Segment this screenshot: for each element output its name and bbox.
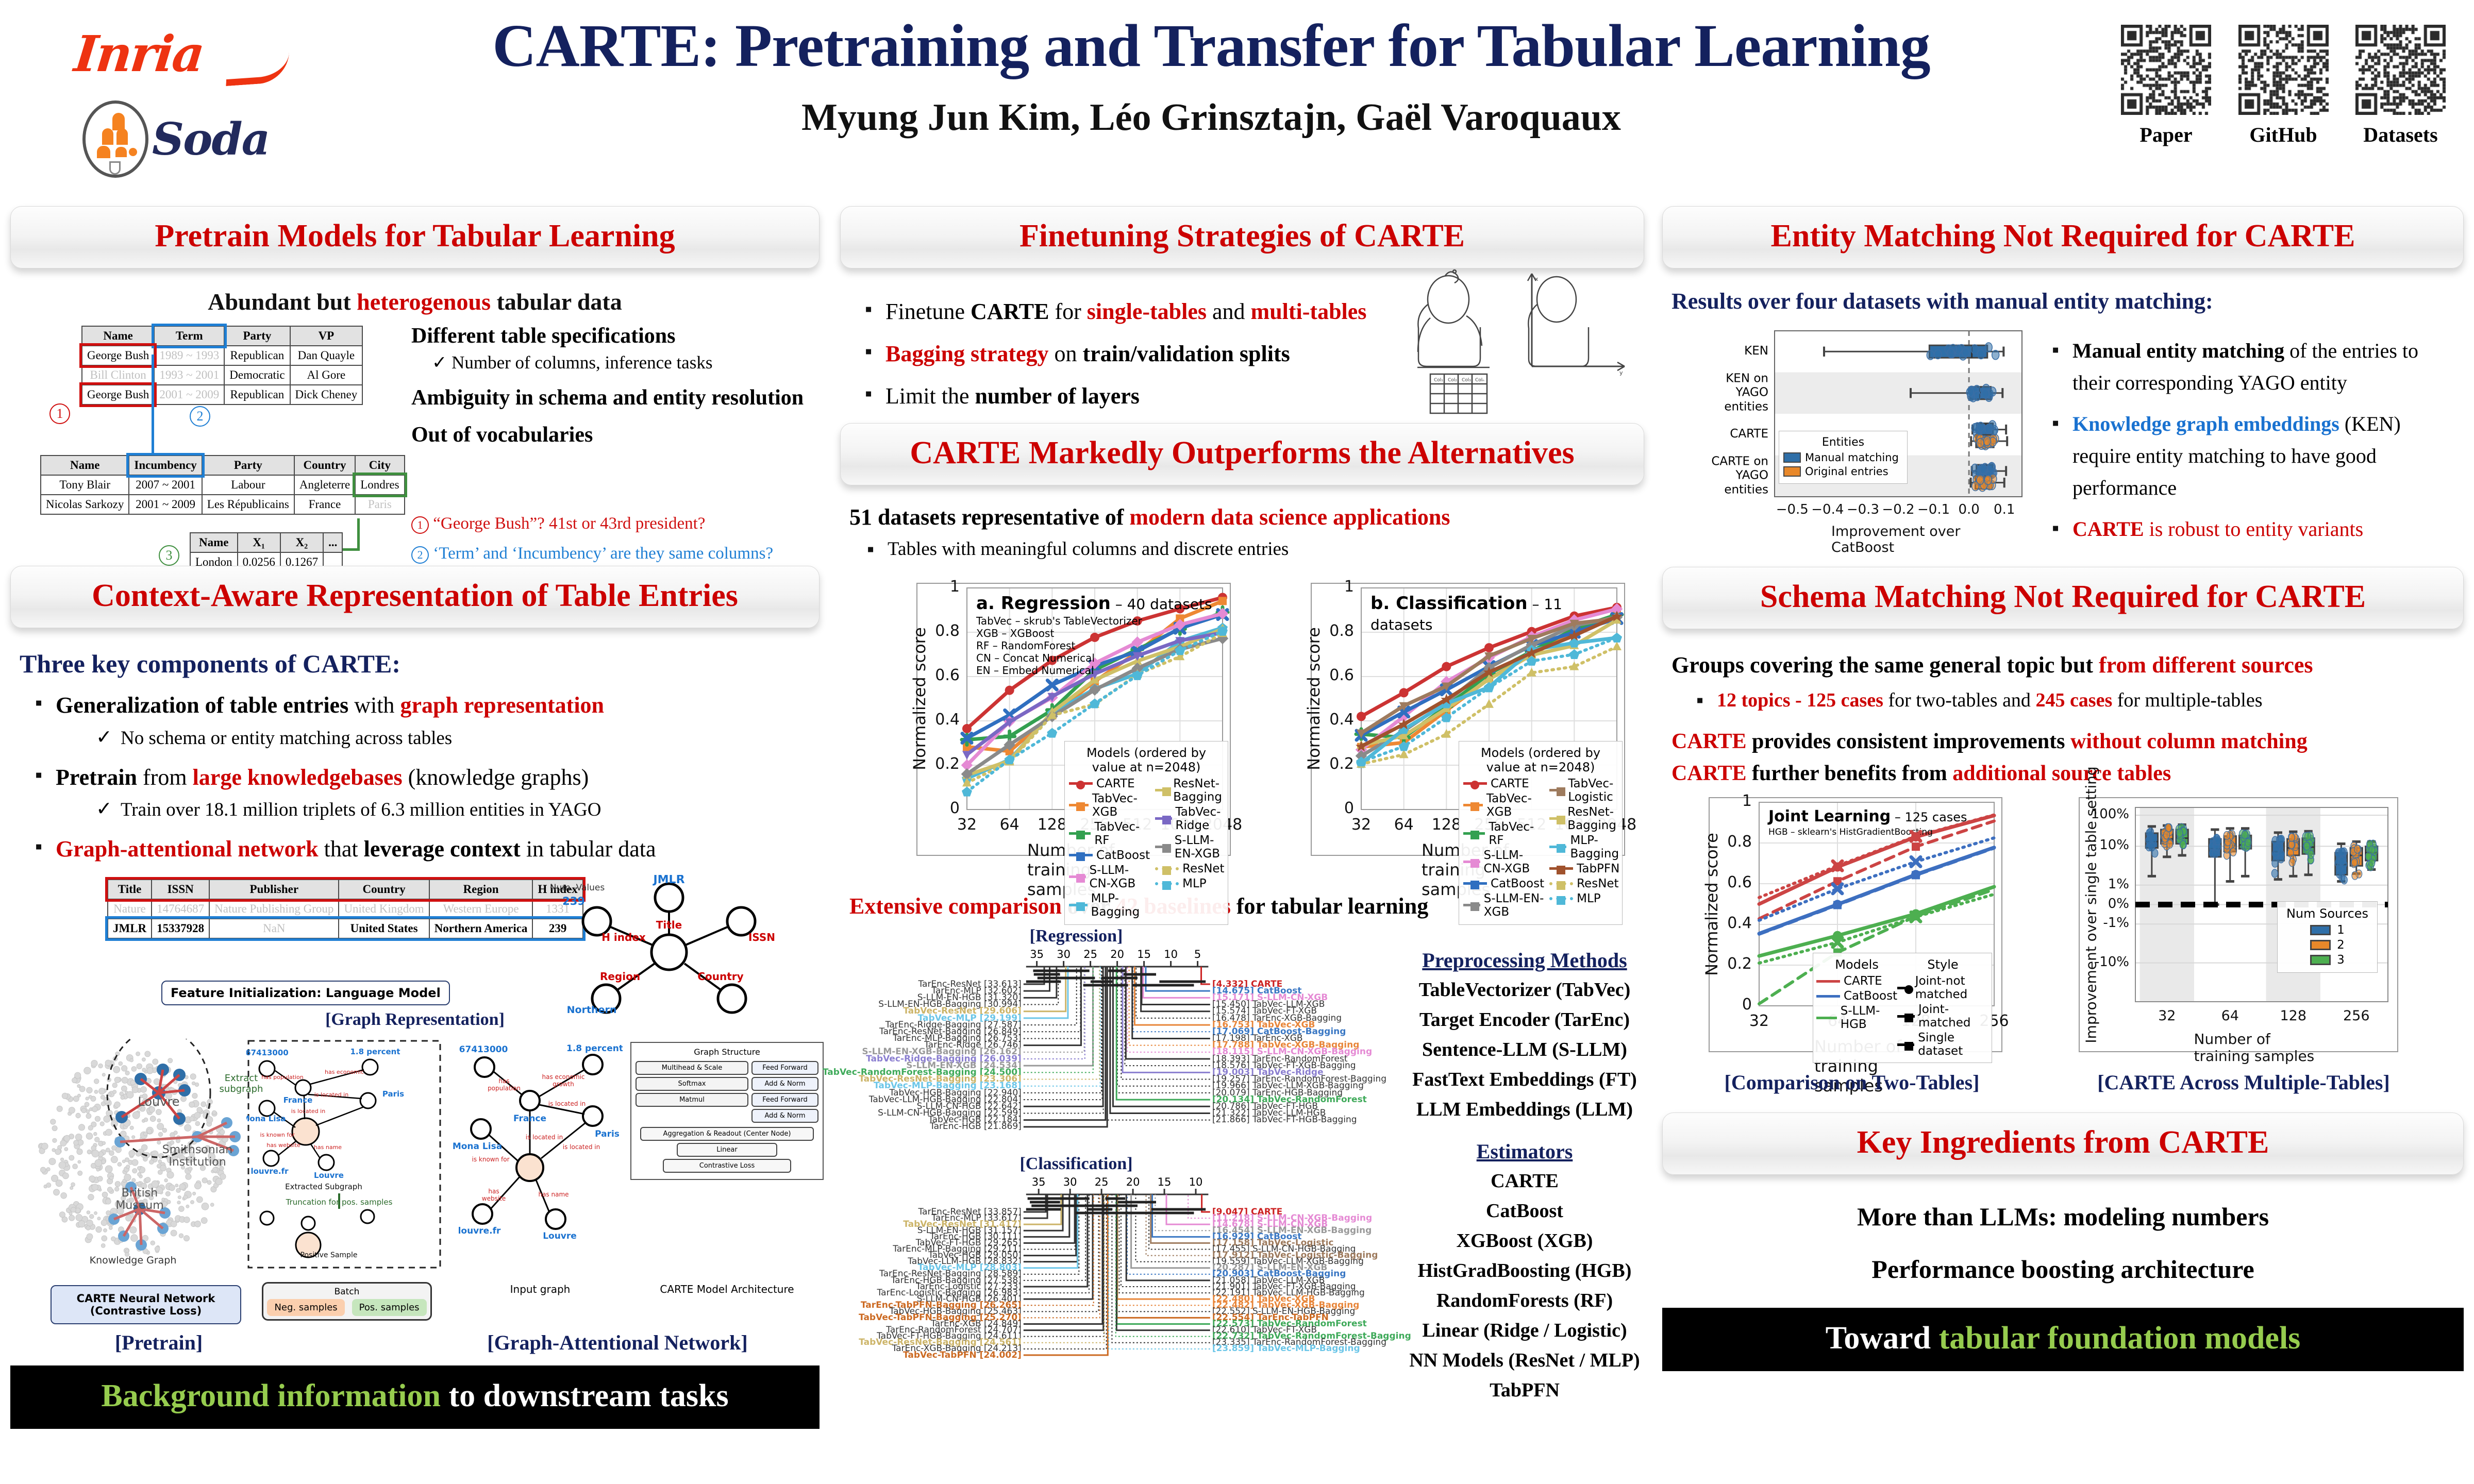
gat-input-graph-svg: 67413000 1.8 percent France Paris Mona L… bbox=[453, 1039, 623, 1281]
preproc-2: Sentence-LLM (S-LLM) bbox=[1403, 1038, 1646, 1061]
em-bullet-2: CARTE is robust to entity variants bbox=[2048, 513, 2460, 545]
cell: Angleterre bbox=[294, 475, 355, 495]
point-check-text: Number of columns, inference tasks bbox=[452, 352, 712, 373]
legend-item: ResNet bbox=[1549, 877, 1626, 890]
inria-logo: Inria bbox=[72, 25, 284, 81]
preprocessing-title: Preprocessing Methods bbox=[1403, 948, 1646, 972]
y-tick: -10% bbox=[2095, 954, 2129, 970]
section-banner-schema-matching: Schema Matching Not Required for CARTE bbox=[1662, 567, 2464, 629]
svg-text:Col₂: Col₂ bbox=[1448, 378, 1457, 383]
key-line-1: Performance boosting architecture bbox=[1662, 1254, 2464, 1284]
ec-d: for bbox=[1231, 893, 1271, 919]
section-title-pretrain-models: Pretrain Models for Tabular Learning bbox=[19, 218, 811, 255]
legend-item: Manual matching bbox=[1783, 451, 1903, 464]
y-category-label: CARTE onYAGO entities bbox=[1692, 454, 1768, 497]
title-block: CARTE: Pretraining and Transfer for Tabu… bbox=[361, 13, 2062, 140]
legend-title: Models (ordered by value at n=2048) bbox=[1069, 744, 1224, 777]
arch-block: Add & Norm bbox=[751, 1077, 818, 1091]
cd-tick: 30 bbox=[1057, 948, 1071, 960]
arch-block: Feed Forward bbox=[751, 1093, 818, 1107]
legend-label: TabVec-RF bbox=[1489, 820, 1544, 847]
th-name: Name bbox=[82, 326, 154, 346]
svg-text:Museum: Museum bbox=[115, 1199, 163, 1212]
legend-swatch bbox=[2310, 955, 2331, 965]
preproc-3: FastText Embeddings (FT) bbox=[1403, 1068, 1646, 1091]
annotation-number-2: 2 bbox=[190, 406, 210, 427]
legend-swatch bbox=[1155, 867, 1179, 870]
cell: Labour bbox=[202, 475, 294, 495]
legend-label: ResNet-Bagging bbox=[1173, 777, 1231, 804]
preprocessing-methods-list: Preprocessing Methods TableVectorizer (T… bbox=[1403, 948, 1646, 1409]
th: Name bbox=[41, 456, 129, 475]
cell: Nicolas Sarkozy bbox=[41, 495, 129, 514]
chart-entity-matching-box: KENKEN onYAGO entitiesCARTECARTE onYAGO … bbox=[1692, 322, 2032, 548]
gat-caption: [Graph-Attentional Network] bbox=[437, 1330, 798, 1355]
left-bottom-banner: Background information to downstream tas… bbox=[10, 1365, 820, 1429]
bullet-0-c: graph representation bbox=[400, 693, 604, 718]
legend-label: TabVec-Ridge bbox=[1176, 805, 1231, 832]
table-row: Title ISSN Publisher Country Region H in… bbox=[108, 880, 583, 899]
cd-tick: 10 bbox=[1189, 1176, 1203, 1188]
legend-item: 3 bbox=[2282, 953, 2373, 967]
x-axis-label: Improvement over CatBoost bbox=[1831, 524, 1965, 555]
svg-text:Smithsonian: Smithsonian bbox=[162, 1143, 232, 1156]
svg-text:Mona Lisa: Mona Lisa bbox=[453, 1141, 502, 1152]
legend-item: S-LLM-CN-XGB bbox=[1463, 849, 1544, 875]
qr-label-github: GitHub bbox=[2236, 123, 2331, 147]
cd-tick: 25 bbox=[1083, 948, 1097, 960]
qr-code-row: Paper GitHub Datasets bbox=[2118, 25, 2448, 147]
point-table-spec: Different table specifications bbox=[411, 324, 824, 348]
cell: Republican bbox=[224, 385, 290, 404]
legend-label: TabVec-XGB bbox=[1092, 792, 1150, 819]
legend-item: TabVec-XGB bbox=[1463, 792, 1544, 819]
em-bullet-0: Manual entity matching of the entries to… bbox=[2048, 335, 2460, 399]
svg-text:Title: Title bbox=[656, 919, 682, 931]
bullet-generalization: Generalization of table entries with gra… bbox=[31, 689, 810, 752]
table-row: Bill Clinton 1993 ~ 2001 Democratic Al G… bbox=[82, 365, 362, 385]
cd-tick: 35 bbox=[1030, 948, 1044, 960]
legend-item: MLP bbox=[1549, 892, 1626, 905]
section-title-context-aware: Context-Aware Representation of Table En… bbox=[19, 578, 811, 614]
x-tick: 32 bbox=[1351, 816, 1371, 834]
legend-swatch bbox=[1463, 861, 1480, 863]
key-line-0: More than LLMs: modeling numbers bbox=[1662, 1202, 2464, 1232]
sm-1b: from different sources bbox=[2099, 652, 2313, 678]
sm-line-3: CARTE further benefits from additional s… bbox=[1671, 761, 2454, 786]
extract-subgraph-label: Extract subgraph bbox=[210, 1073, 272, 1094]
pos-samples-box: Pos. samples bbox=[352, 1299, 427, 1316]
entity-matching-figure: KENKEN onYAGO entitiesCARTECARTE onYAGO … bbox=[1671, 322, 2454, 564]
ft-2-a: Limit the bbox=[885, 383, 975, 409]
bullet-1-a: Pretrain bbox=[56, 765, 137, 790]
legend-item: MLP-Bagging bbox=[1549, 834, 1626, 861]
critical-difference-area: [Regression] 3530252015105TarEnc-ResNet … bbox=[849, 926, 1635, 1380]
arch-block: Matmul bbox=[636, 1093, 748, 1107]
batch-box: Batch Neg. samples Pos. samples bbox=[262, 1282, 432, 1321]
th-vp: VP bbox=[290, 326, 363, 346]
key-ingredients-body: More than LLMs: modeling numbers Perform… bbox=[1662, 1202, 2464, 1284]
legend-label: ResNet bbox=[1577, 877, 1618, 890]
legend-swatch bbox=[1069, 854, 1093, 856]
th: Name bbox=[190, 533, 238, 552]
context-aware-bullets: Generalization of table entries with gra… bbox=[31, 689, 810, 866]
carte-architecture-box: Graph Structure Multihead & ScaleSoftmax… bbox=[630, 1042, 824, 1180]
estimators-title: Estimators bbox=[1403, 1139, 1646, 1163]
x-axis-label: Number of training samples bbox=[2194, 1031, 2330, 1065]
svg-text:has: has bbox=[498, 1077, 509, 1085]
x-tick: 128 bbox=[1038, 816, 1067, 834]
lead-part-b: tabular data bbox=[491, 289, 622, 315]
cell: 2007 ~ 2001 bbox=[129, 475, 202, 495]
legend-swatch bbox=[1463, 804, 1483, 806]
legend-item: Original entries bbox=[1783, 465, 1903, 478]
legend-item: ResNet-Bagging bbox=[1155, 777, 1231, 804]
y-tick: 1 bbox=[1344, 578, 1354, 596]
table-row: Name X₁ X₂ ... bbox=[190, 533, 342, 552]
th: Incumbency bbox=[129, 456, 202, 475]
svg-text:website: website bbox=[482, 1195, 506, 1202]
th: Party bbox=[202, 456, 294, 475]
legend-title-2: Style bbox=[1897, 955, 1988, 974]
legend-swatch bbox=[1069, 832, 1091, 835]
chart-classification: 00.20.40.60.81326412825651210242048Numbe… bbox=[1311, 583, 1625, 856]
svg-text:is located in: is located in bbox=[526, 1134, 563, 1141]
legend-item: Joint-matched bbox=[1897, 1003, 1988, 1030]
subgraph-caption: Extracted Subgraph bbox=[285, 1182, 362, 1191]
x-tick: −0.1 bbox=[1917, 502, 1950, 517]
finetuning-body: Finetune CARTE for single-tables and mul… bbox=[840, 268, 1644, 423]
legend-label: CARTE bbox=[1844, 974, 1882, 988]
chart-note: TabVec – skrub's TableVectorizer bbox=[976, 615, 1142, 627]
q1-text: “George Bush”? 41st or 43rd president? bbox=[433, 514, 705, 533]
heterogenous-tables-figure: Name Term Party VP George Bush 1989 ~ 19… bbox=[20, 324, 810, 561]
cell: 2001 ~ 2009 bbox=[129, 495, 202, 514]
svg-text:1.8 percent: 1.8 percent bbox=[350, 1047, 400, 1056]
legend-item: CatBoost bbox=[1816, 989, 1897, 1003]
legend-label: MLP bbox=[1577, 892, 1601, 905]
legend-swatch bbox=[2310, 940, 2331, 950]
q2-num: 2 bbox=[411, 546, 429, 564]
y-category-label: KEN onYAGO entities bbox=[1692, 372, 1768, 414]
x-tick: 32 bbox=[2158, 1008, 2176, 1024]
table-row: George Bush 2001 ~ 2009 Republican Dick … bbox=[82, 385, 362, 404]
num-values-label: Num. Values bbox=[550, 883, 605, 893]
legend-swatch bbox=[1549, 789, 1564, 791]
datasets-lead: 51 datasets representative of modern dat… bbox=[849, 504, 1635, 530]
cell: 14764687 bbox=[152, 899, 209, 919]
estimator-0: CARTE bbox=[1403, 1170, 1646, 1192]
legend-item: CARTE bbox=[1816, 974, 1897, 988]
y-tick: 0.6 bbox=[935, 666, 960, 684]
poster-title: CARTE: Pretraining and Transfer for Tabu… bbox=[361, 13, 2062, 78]
legend-label: MLP bbox=[1182, 877, 1207, 890]
outperforms-body: 51 datasets representative of modern dat… bbox=[840, 485, 1644, 1380]
sm-b-a: 12 topics - 125 cases bbox=[1717, 689, 1883, 711]
arch-block: Add & Norm bbox=[751, 1109, 818, 1123]
legend-label: Joint-not matched bbox=[1915, 974, 1988, 1001]
qr-item-paper[interactable]: Paper bbox=[2118, 25, 2214, 147]
annotation-number-3: 3 bbox=[159, 545, 179, 566]
sm-3c: additional source tables bbox=[1952, 762, 2171, 785]
cell: Democratic bbox=[224, 365, 290, 385]
section-title-entity-matching: Entity Matching Not Required for CARTE bbox=[1671, 218, 2455, 255]
entity-matching-lead: Results over four datasets with manual e… bbox=[1671, 288, 2454, 314]
cd-classification-title: [Classification] bbox=[942, 1154, 1210, 1174]
annotation-number-1: 1 bbox=[49, 403, 70, 424]
left-column: Pretrain Models for Tabular Learning Abu… bbox=[10, 206, 820, 1429]
datasets-lead-hl: modern data science applications bbox=[1129, 504, 1450, 530]
x-tick: −0.4 bbox=[1811, 502, 1844, 517]
legend-swatch bbox=[1463, 782, 1487, 785]
arch-block: Contrastive Loss bbox=[663, 1159, 791, 1173]
legend-label: Joint-matched bbox=[1918, 1003, 1988, 1030]
truncation-label: Truncation for pos. samples bbox=[286, 1198, 393, 1207]
legend-item: S-LLM-EN-XGB bbox=[1155, 834, 1231, 861]
legend-item: S-LLM-HGB bbox=[1816, 1004, 1897, 1031]
bullet-1-c: large knowledgebases bbox=[193, 765, 403, 790]
cd-classification-diagram: 353025201510TarEnc-ResNet [33.857]TarEnc… bbox=[855, 1174, 1391, 1380]
legend-swatch bbox=[1069, 804, 1089, 806]
x-tick: 64 bbox=[2221, 1008, 2239, 1024]
legend-label: S-LLM-CN-XGB bbox=[1090, 864, 1150, 890]
legend-swatch bbox=[1783, 466, 1801, 477]
qr-code-icon[interactable] bbox=[2355, 25, 2446, 115]
y-tick: 0% bbox=[2108, 896, 2129, 912]
lead-highlight: heterogenous bbox=[357, 289, 491, 315]
svg-text:has economic: has economic bbox=[542, 1073, 585, 1081]
svg-text:is known for: is known for bbox=[260, 1132, 295, 1138]
ft-0-d: single-tables bbox=[1087, 299, 1207, 324]
legend-label: MLP-Bagging bbox=[1091, 892, 1150, 919]
chart-legend: Entities Manual matching Original entrie… bbox=[1779, 431, 1908, 484]
y-tick: 10% bbox=[2099, 837, 2129, 853]
bullet-2-d: in tabular data bbox=[521, 836, 656, 862]
cell: Tony Blair bbox=[41, 475, 129, 495]
legend-swatch bbox=[1897, 1015, 1915, 1018]
chart-joint-learning: 00.20.40.60.813264128256Number of traini… bbox=[1709, 797, 2002, 1052]
sm-line-1: Groups covering the same general topic b… bbox=[1671, 652, 2454, 678]
svg-text:louvre.fr: louvre.fr bbox=[250, 1167, 289, 1176]
arch-block: Aggregation & Readout (Center Node) bbox=[640, 1127, 814, 1141]
qr-item-github[interactable]: GitHub bbox=[2236, 25, 2331, 147]
finetune-bullet-0: Finetune CARTE for single-tables and mul… bbox=[861, 295, 1392, 328]
svg-text:is located in: is located in bbox=[314, 1091, 348, 1098]
legend-item: CARTE bbox=[1069, 777, 1150, 790]
cell: Londres bbox=[355, 475, 404, 495]
legend-item: ResNet bbox=[1155, 862, 1231, 875]
cell: France bbox=[294, 495, 355, 514]
svg-text:has website: has website bbox=[266, 1142, 300, 1149]
th: ISSN bbox=[152, 880, 209, 899]
cd-tick: 30 bbox=[1063, 1176, 1077, 1188]
svg-text:British: British bbox=[122, 1187, 158, 1200]
datasets-lead-a: 51 datasets representative of bbox=[849, 504, 1129, 530]
finetuning-bullets: Finetune CARTE for single-tables and mul… bbox=[861, 295, 1392, 412]
svg-text:ISSN: ISSN bbox=[748, 931, 775, 943]
caption-two-tables: [Comparison on Two-Tables] bbox=[1671, 1070, 2032, 1094]
x-tick: 64 bbox=[1394, 816, 1414, 834]
th: X₁ bbox=[238, 533, 280, 552]
bullet-gat: Graph-attentional network that leverage … bbox=[31, 833, 810, 866]
sm-b-c: 245 cases bbox=[2035, 689, 2112, 711]
star-graph-svg: JMLR Title H index ISSN Region Country N… bbox=[514, 875, 824, 1014]
cell: 1993 ~ 2001 bbox=[154, 365, 224, 385]
sm-b-d: for multiple-tables bbox=[2112, 689, 2262, 711]
legend-item: 1 bbox=[2282, 923, 2373, 937]
svg-text:67413000: 67413000 bbox=[459, 1044, 508, 1055]
question-1: 1 “George Bush”? 41st or 43rd president? bbox=[411, 509, 824, 539]
legend-label: S-LLM-HGB bbox=[1841, 1004, 1897, 1031]
svg-text:has name: has name bbox=[538, 1191, 569, 1198]
svg-text:x: x bbox=[1535, 276, 1539, 282]
svg-text:is known for: is known for bbox=[472, 1156, 509, 1163]
cd-tick: 20 bbox=[1110, 948, 1124, 960]
right-column: Entity Matching Not Required for CARTE R… bbox=[1662, 206, 2464, 1371]
cell: Paris bbox=[355, 495, 404, 514]
right-banner-b: tabular foundation models bbox=[1939, 1321, 2301, 1356]
section-title-outperforms: CARTE Markedly Outperforms the Alternati… bbox=[849, 435, 1635, 471]
legend-title: Entities bbox=[1783, 434, 1903, 451]
legend-swatch bbox=[1816, 980, 1840, 983]
sm-1a: Groups covering the same general topic b… bbox=[1671, 652, 2099, 678]
chart-title: a. Regression – 40 datasets bbox=[976, 593, 1212, 614]
legend-title: Models (ordered by value at n=2048) bbox=[1463, 744, 1618, 777]
svg-text:population: population bbox=[488, 1085, 521, 1092]
x-tick: 0.0 bbox=[1958, 502, 1979, 517]
legend-swatch bbox=[1155, 882, 1179, 885]
x-tick: 32 bbox=[957, 816, 977, 834]
legend-item: TabVec-RF bbox=[1069, 820, 1150, 847]
cd-entry-left: TarEnc-HGB [21.869] bbox=[930, 1121, 1022, 1132]
y-tick: 0.8 bbox=[1329, 622, 1354, 640]
em-2-b: is robust to entity variants bbox=[2144, 517, 2364, 541]
svg-text:Mona Lisa: Mona Lisa bbox=[246, 1114, 286, 1123]
preproc-1: Target Encoder (TarEnc) bbox=[1403, 1008, 1646, 1031]
svg-text:has name: has name bbox=[314, 1144, 342, 1151]
legend-swatch bbox=[1897, 1043, 1914, 1046]
poster-authors: Myung Jun Kim, Léo Grinsztajn, Gaël Varo… bbox=[361, 96, 2062, 140]
legend-item: S-LLM-CN-XGB bbox=[1069, 864, 1150, 890]
graph-representation-figure: Title ISSN Publisher Country Region H in… bbox=[20, 875, 810, 1030]
th: Publisher bbox=[209, 880, 339, 899]
legend-swatch bbox=[1069, 904, 1088, 906]
learning-curves-row: 00.20.40.60.81326412825651210242048Numbe… bbox=[849, 572, 1635, 892]
estimator-4: RandomForests (RF) bbox=[1403, 1289, 1646, 1312]
left-banner-hl: Background information bbox=[101, 1378, 441, 1413]
qr-item-datasets[interactable]: Datasets bbox=[2353, 25, 2448, 147]
legend-swatch bbox=[1463, 832, 1485, 835]
bullet-1-d: (knowledge graphs) bbox=[403, 765, 589, 790]
section-banner-entity-matching: Entity Matching Not Required for CARTE bbox=[1662, 206, 2464, 268]
chart-note: RF – RandomForest bbox=[976, 639, 1075, 652]
chart-multi-table-box: 100%10%1%0%-1%-10%3264128256Number of tr… bbox=[2079, 797, 2398, 1052]
preproc-4: LLM Embeddings (LLM) bbox=[1403, 1098, 1646, 1121]
carte-architecture-label: CARTE Model Architecture bbox=[630, 1283, 824, 1295]
pretrain-models-body: Abundant but heterogenous tabular data N… bbox=[10, 268, 820, 561]
legend-label: CARTE bbox=[1491, 777, 1529, 790]
cell: George Bush bbox=[82, 346, 154, 365]
legend-swatch bbox=[1069, 782, 1093, 785]
cell: United States bbox=[339, 919, 429, 938]
legend-item: CatBoost bbox=[1463, 877, 1544, 890]
y-category-label: CARTE bbox=[1730, 427, 1768, 442]
kg-node-louvre: Louvre bbox=[138, 1094, 179, 1109]
x-tick: 0.1 bbox=[1994, 502, 2015, 517]
gat-block-list: Multihead & ScaleSoftmaxMatmulFeed Forwa… bbox=[636, 1059, 818, 1173]
legend-label: Single dataset bbox=[1918, 1031, 1988, 1058]
qr-code-icon[interactable] bbox=[2121, 25, 2211, 115]
researcher-sketch-icon: Col₁ Col₂ Col₃ Colₙ x y bbox=[1386, 268, 1629, 418]
sm-line-2: CARTE provides consistent improvements w… bbox=[1671, 729, 2454, 754]
legend-item: CARTE bbox=[1463, 777, 1544, 790]
pretrain-caption: [Pretrain] bbox=[61, 1330, 257, 1355]
y-category-label: KEN bbox=[1744, 344, 1768, 359]
pretrain-gat-figures: Louvre Smithsonian Institution bbox=[20, 1039, 810, 1327]
cell: Nature bbox=[108, 899, 152, 919]
ft-0-a: Finetune bbox=[885, 299, 971, 324]
node-label-jmlr: JMLR bbox=[652, 875, 684, 886]
question-2: 2 ‘Term’ and ‘Incumbency’ are they same … bbox=[411, 539, 824, 569]
point-ambiguity: Ambiguity in schema and entity resolutio… bbox=[411, 385, 824, 410]
legend-title: Models bbox=[1816, 955, 1897, 974]
estimator-5: Linear (Ridge / Logistic) bbox=[1403, 1319, 1646, 1342]
check-list-0: No schema or entity matching across tabl… bbox=[94, 725, 810, 752]
y-tick: 1% bbox=[2108, 876, 2129, 892]
example-table-pms: Name Incumbency Party Country City Tony … bbox=[40, 455, 405, 515]
cell: Nature Publishing Group bbox=[209, 899, 339, 919]
sm-b-b: for two-tables and bbox=[1883, 689, 2035, 711]
sm-2d: without column matching bbox=[2065, 730, 2308, 753]
legend-item: TabPFN bbox=[1549, 862, 1626, 875]
cd-tick: 10 bbox=[1164, 948, 1178, 960]
svg-text:Institution: Institution bbox=[169, 1156, 226, 1169]
qr-code-icon[interactable] bbox=[2238, 25, 2329, 115]
legend-item: S-LLM-EN-XGB bbox=[1463, 892, 1544, 919]
y-tick: 0.4 bbox=[1329, 711, 1354, 729]
ft-1-b: Bagging strategy bbox=[885, 341, 1049, 366]
arch-block: Softmax bbox=[636, 1077, 748, 1091]
th: ... bbox=[323, 533, 342, 552]
middle-column: Finetuning Strategies of CARTE Finetune … bbox=[840, 206, 1644, 1380]
sm-2a: CARTE bbox=[1671, 730, 1747, 753]
legend-label: S-LLM-EN-XGB bbox=[1175, 834, 1231, 861]
cell: Bill Clinton bbox=[82, 365, 154, 385]
lead-part-a: Abundant but bbox=[208, 289, 357, 315]
pretrain-models-lead: Abundant but heterogenous tabular data bbox=[20, 288, 810, 315]
em-2-a: CARTE bbox=[2072, 517, 2144, 541]
ec-e: tabular learning bbox=[1271, 893, 1428, 919]
cd-tick: 15 bbox=[1137, 948, 1151, 960]
legend-label: S-LLM-EN-XGB bbox=[1484, 892, 1544, 919]
section-banner-context-aware: Context-Aware Representation of Table En… bbox=[10, 566, 820, 628]
cell: Republican bbox=[224, 346, 290, 365]
x-tick: −0.2 bbox=[1882, 502, 1914, 517]
legend-label: TabVec-Logistic bbox=[1568, 777, 1625, 804]
ft-2-b: number of layers bbox=[975, 383, 1140, 409]
sm-3b: further benefits from bbox=[1747, 762, 1953, 785]
legend-swatch bbox=[1816, 995, 1840, 998]
left-banner-rest: to downstream tasks bbox=[441, 1378, 729, 1413]
x-tick: 128 bbox=[2280, 1008, 2306, 1024]
y-tick: 0.4 bbox=[935, 711, 960, 729]
chart-note: CN – Concat Numerical bbox=[976, 652, 1095, 664]
legend-item: ResNet-Bagging bbox=[1549, 805, 1626, 832]
svg-text:239: 239 bbox=[562, 895, 585, 907]
y-tick: 0.2 bbox=[1329, 755, 1354, 773]
point-check: ✓ Number of columns, inference tasks bbox=[432, 352, 824, 373]
point-oov: Out of vocabularies bbox=[411, 423, 824, 447]
